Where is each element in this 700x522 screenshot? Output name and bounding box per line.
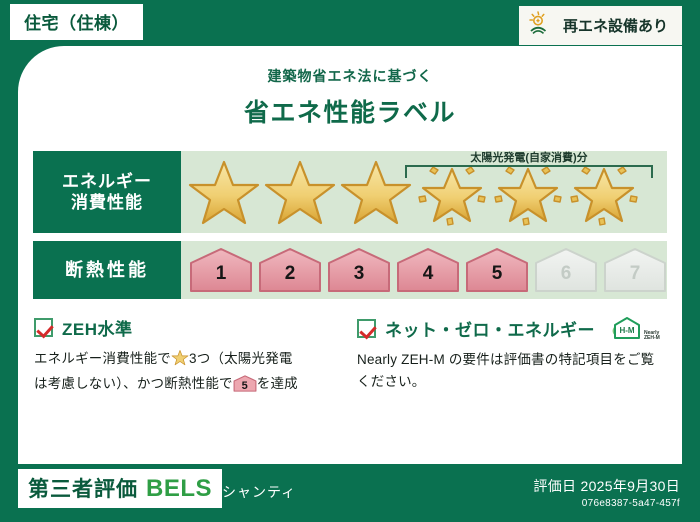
zeh-body-end: を達成: [257, 376, 298, 391]
svg-text:H-M: H-M: [619, 326, 634, 335]
solar-annotation-bracket: [405, 165, 653, 178]
feature-zeh-level: ZEH水準 エネルギー消費性能で3つ（太陽光発電 は考慮しない）、かつ断熱性能で…: [34, 315, 343, 395]
feature-net-zero-body: Nearly ZEH-M の要件は評価書の特記項目をご覧ください。: [357, 349, 666, 393]
page-title: 省エネ性能ラベル: [18, 93, 682, 129]
insulation-grade-badge: 2: [257, 247, 323, 293]
evaluation-info: 評価日 2025年9月30日 076e8387-5a47-457f: [533, 476, 680, 509]
insulation-grade-badge: 4: [395, 247, 461, 293]
energy-performance-row: エネルギー 消費性能 太陽光発電(自家消費)分: [33, 151, 667, 233]
zeh-body-line2: は考慮しない）、かつ断熱性能で: [34, 376, 233, 391]
energy-performance-body: 太陽光発電(自家消費)分: [181, 151, 667, 233]
insulation-performance-label: 断熱性能: [33, 241, 181, 299]
renewable-badge-label: 再エネ設備あり: [563, 15, 668, 36]
star-filled: [187, 156, 261, 228]
checkbox-checked-icon: [34, 318, 53, 337]
checkbox-checked-icon: [357, 319, 376, 338]
housing-type-tab: 住宅（住棟）: [10, 4, 143, 40]
label-panel: 建築物省エネ法に基づく 省エネ性能ラベル エネルギー 消費性能 太陽光発電(自家…: [18, 46, 682, 464]
insulation-grade-badge: 6: [533, 247, 599, 293]
bels-label: BELS: [146, 475, 212, 503]
feature-net-zero-energy: ネット・ゼロ・エネルギー H-M Nearly ZEH-M Nearly ZEH…: [357, 315, 666, 395]
solar-sun-icon: [529, 11, 555, 40]
bels-certification-mark: 第三者評価 BELS: [18, 469, 222, 508]
star-inline-icon: [171, 349, 189, 373]
insulation-grade-value: 2: [257, 263, 323, 285]
feature-blocks: ZEH水準 エネルギー消費性能で3つ（太陽光発電 は考慮しない）、かつ断熱性能で…: [34, 315, 666, 395]
insulation-grade-badge: 1: [188, 247, 254, 293]
feature-zeh-level-title: ZEH水準: [62, 315, 133, 340]
star-filled: [263, 156, 337, 228]
renewable-equipment-badge: 再エネ設備あり: [519, 6, 682, 45]
housing-type-label: 住宅（住棟）: [24, 14, 129, 33]
zeh-m-logo-sub2: ZEH-M: [644, 336, 660, 341]
client-name: シャンティ: [222, 482, 296, 502]
star-filled: [339, 156, 413, 228]
insulation-grade-value: 7: [602, 263, 668, 285]
energy-performance-label: エネルギー 消費性能: [33, 151, 181, 233]
third-party-label: 第三者評価: [28, 473, 138, 503]
insulation-grade-badge: 3: [326, 247, 392, 293]
feature-net-zero-title: ネット・ゼロ・エネルギー: [385, 316, 595, 341]
zeh-body-mid: 3つ（太陽光発電: [189, 351, 293, 366]
insulation-grade-value: 4: [395, 263, 461, 285]
feature-zeh-level-head: ZEH水準: [34, 315, 343, 340]
feature-zeh-level-body: エネルギー消費性能で3つ（太陽光発電 は考慮しない）、かつ断熱性能で5を達成: [34, 348, 343, 395]
evaluation-id: 076e8387-5a47-457f: [533, 498, 680, 509]
insulation-grade-value: 3: [326, 263, 392, 285]
insulation-badge-inline-icon: 5: [233, 375, 257, 392]
feature-net-zero-head: ネット・ゼロ・エネルギー H-M Nearly ZEH-M: [357, 315, 666, 341]
zeh-m-logo-icon: H-M Nearly ZEH-M: [608, 315, 660, 341]
metric-rows: エネルギー 消費性能 太陽光発電(自家消費)分: [33, 151, 667, 299]
insulation-performance-row: 断熱性能 1: [33, 241, 667, 299]
solar-annotation-label: 太陽光発電(自家消費)分: [403, 149, 655, 165]
insulation-grade-badge: 7: [602, 247, 668, 293]
insulation-performance-body: 1 2 3 4: [181, 241, 668, 299]
footer: 第三者評価 BELS シャンティ 評価日 2025年9月30日 076e8387…: [0, 464, 700, 522]
insulation-grade-value: 5: [464, 263, 530, 285]
insulation-grade-badge: 5: [464, 247, 530, 293]
insulation-grade-scale: 1 2 3 4: [181, 247, 668, 293]
zeh-body-pre: エネルギー消費性能で: [34, 351, 171, 366]
label-subtitle: 建築物省エネ法に基づく: [18, 66, 682, 86]
evaluation-date: 評価日 2025年9月30日: [533, 476, 680, 496]
insulation-grade-value: 6: [533, 263, 599, 285]
insulation-grade-value: 1: [188, 263, 254, 285]
insulation-badge-inline-value: 5: [233, 378, 257, 396]
